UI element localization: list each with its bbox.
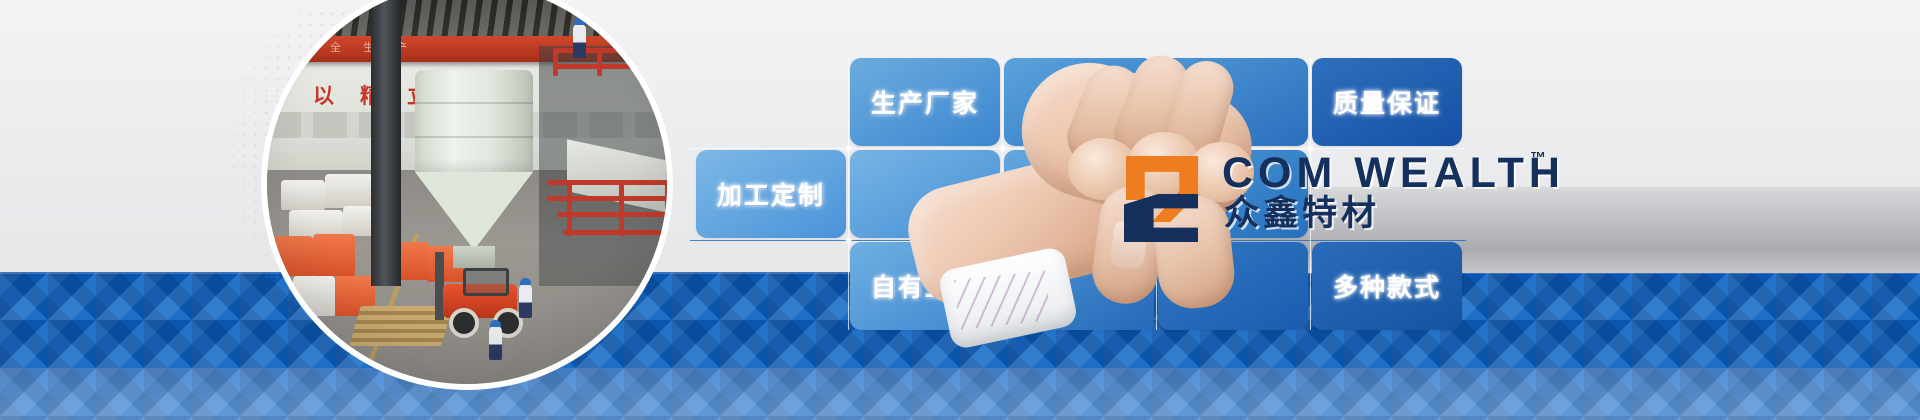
feature-tile-label: 多种款式 [1312,268,1462,304]
feature-tile-quality[interactable]: 质量保证 [1312,58,1462,146]
promotional-banner: 以精立业 安全生产 [0,0,1920,420]
grid-node [845,145,852,152]
feature-tile-styles[interactable]: 多种款式 [1312,242,1462,330]
safety-railing [641,48,646,76]
feature-tile-label: 加工定制 [696,176,846,212]
gridline-vertical [848,58,849,330]
logo-mark-icon [1122,154,1208,240]
logo-chinese-name: 众鑫特材 [1224,196,1380,231]
company-logo[interactable]: COM WEALTH ™ 众鑫特材 [1122,148,1542,244]
logo-trademark-symbol: ™ [1530,150,1546,168]
feature-tile-label: 质量保证 [1312,84,1462,120]
logo-english-name: COM WEALTH [1222,152,1565,195]
photo-vignette [267,0,667,384]
factory-photo-circle: 以精立业 安全生产 [267,0,667,384]
feature-tile-custom[interactable]: 加工定制 [696,150,846,238]
factory-scene: 以精立业 安全生产 [267,0,667,384]
grid-node [845,237,852,244]
